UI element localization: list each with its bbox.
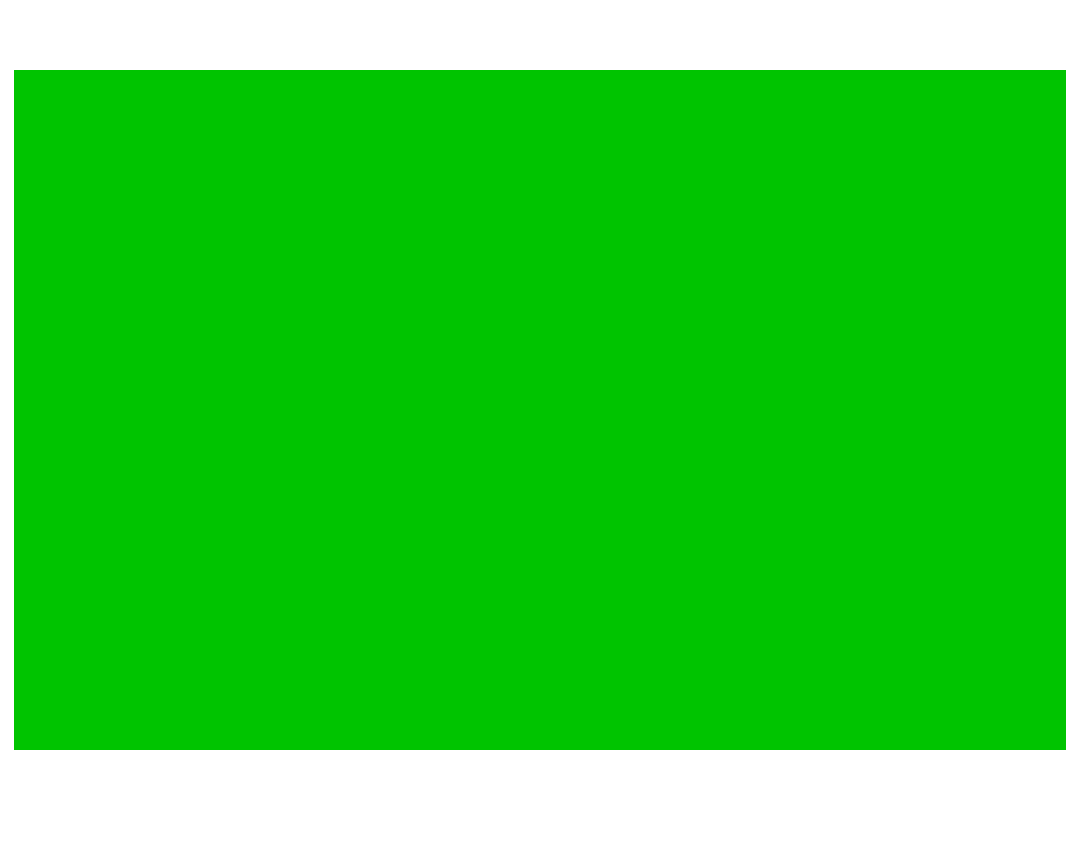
margin-band-top [0, 0, 1080, 70]
margin-band-right [1066, 70, 1080, 750]
content-panel-body [14, 70, 1066, 750]
content-panel[interactable] [14, 70, 1066, 750]
margin-band-bottom [0, 750, 1080, 858]
screen-canvas [0, 0, 1080, 858]
margin-band-left [0, 70, 14, 750]
